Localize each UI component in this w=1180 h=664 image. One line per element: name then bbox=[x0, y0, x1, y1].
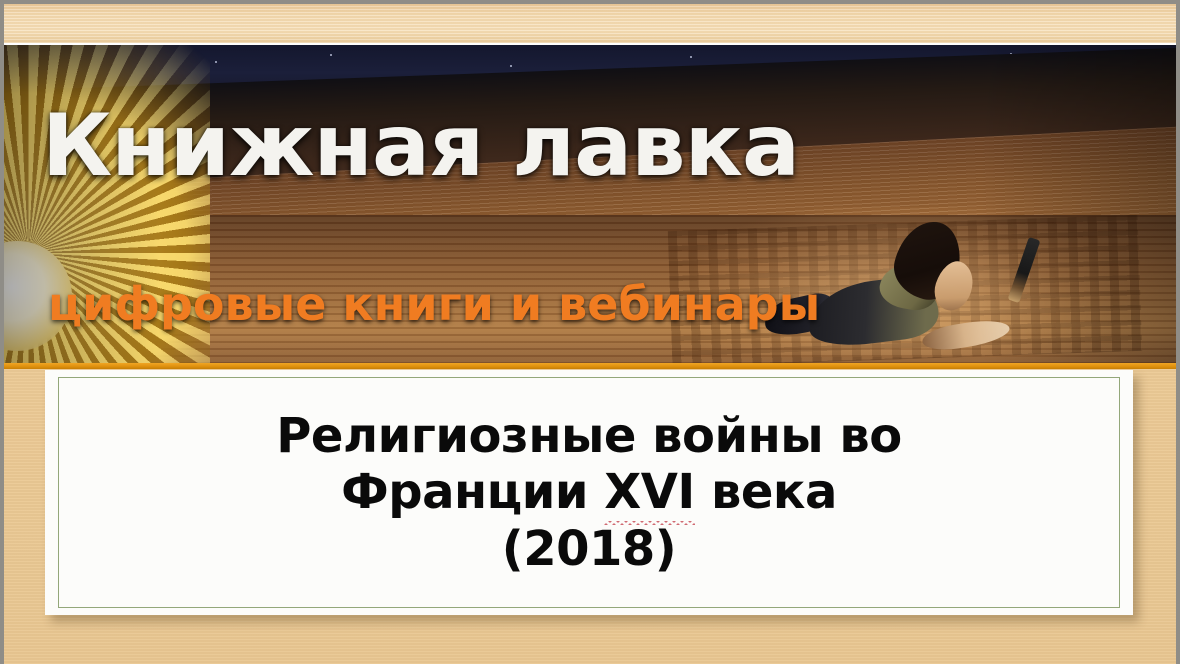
slide-right-edge bbox=[1176, 0, 1180, 664]
star-icon bbox=[690, 56, 692, 58]
brand-tagline: цифровые книги и вебинары bbox=[48, 281, 820, 327]
slide-left-edge bbox=[0, 0, 4, 664]
banner-divider-rule bbox=[0, 363, 1180, 369]
star-icon bbox=[215, 61, 217, 63]
banner-image: Книжная лавка цифровые книги и вебинары bbox=[0, 45, 1180, 365]
brand-title: Книжная лавка bbox=[42, 103, 799, 189]
slide-top-edge bbox=[0, 0, 1180, 4]
presentation-slide: Книжная лавка цифровые книги и вебинары … bbox=[0, 0, 1180, 664]
content-card: Религиозные войны во Франции XVI века (2… bbox=[45, 370, 1133, 615]
slide-title-year: (2018) bbox=[276, 521, 902, 578]
star-icon bbox=[330, 54, 332, 56]
star-icon bbox=[510, 65, 512, 67]
card-body: Религиозные войны во Франции XVI века (2… bbox=[45, 370, 1133, 615]
banner-right-vignette bbox=[980, 45, 1180, 365]
slide-title-misspelled-word: XVI bbox=[604, 464, 695, 521]
slide-title-line-1: Религиозные войны во bbox=[276, 408, 902, 465]
slide-title: Религиозные войны во Франции XVI века (2… bbox=[276, 408, 902, 578]
slide-title-line-2-suffix: века bbox=[695, 464, 837, 520]
slide-title-line-2: Франции XVI века bbox=[276, 464, 902, 521]
slide-title-line-2-prefix: Франции bbox=[341, 464, 604, 520]
top-decorative-band bbox=[0, 3, 1180, 43]
